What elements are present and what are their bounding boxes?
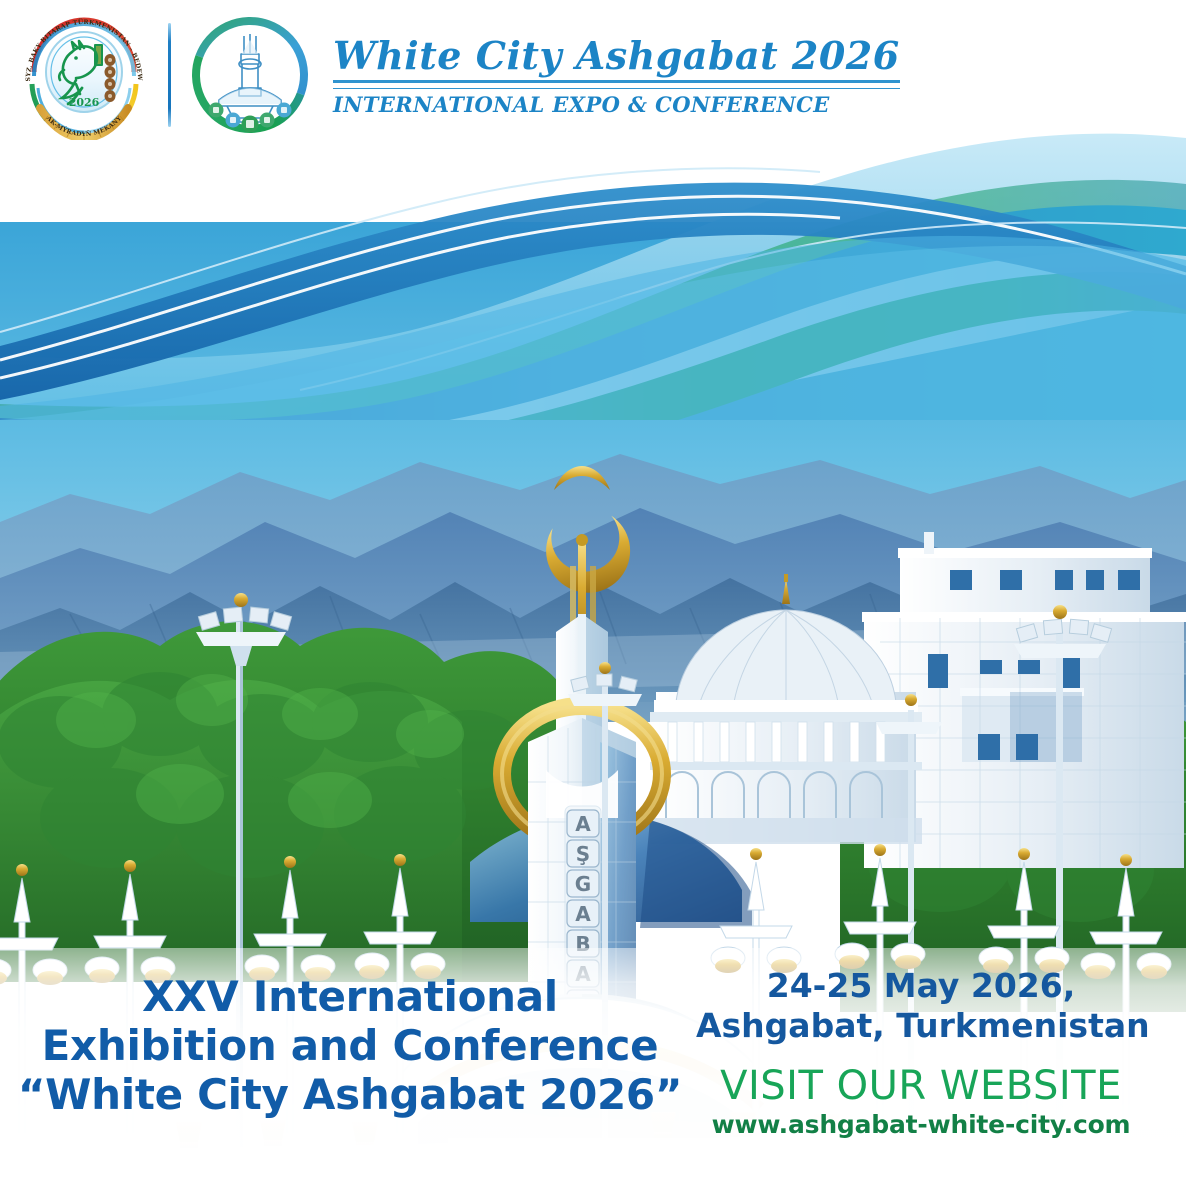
tree-canopy-left — [0, 621, 566, 982]
event-title-line-1: XXV International — [0, 972, 700, 1021]
emblem-year: 2026 — [69, 96, 100, 109]
wordmark: White City Ashgabat 2026 INTERNATIONAL E… — [333, 35, 900, 116]
state-emblem: 2026 GARAŞSYZ, BAKY BITARAP TÜRKMENISTAN… — [18, 10, 150, 140]
turkmenistan-state-emblem-icon: 2026 GARAŞSYZ, BAKY BITARAP TÜRKMENISTAN… — [18, 10, 150, 140]
expo-logo — [189, 14, 311, 136]
bottom-text-band: XXV International Exhibition and Confere… — [0, 948, 1186, 1186]
poster: A Ş G A B A T — [0, 0, 1186, 1186]
event-title-line-2: Exhibition and Conference — [0, 1021, 700, 1070]
event-date-line: 24-25 May 2026, — [696, 966, 1146, 1006]
wordmark-script: White City Ashgabat 2026 — [333, 35, 900, 77]
visit-website-label: VISIT OUR WEBSITE — [696, 1062, 1146, 1110]
wordmark-rule — [333, 80, 900, 83]
event-title-line-3: “White City Ashgabat 2026” — [0, 1070, 700, 1119]
svg-text:G: G — [575, 872, 591, 896]
svg-text:Ş: Ş — [576, 842, 590, 866]
event-location-line: Ashgabat, Turkmenistan — [696, 1006, 1146, 1046]
website-url-link[interactable]: www.ashgabat-white-city.com — [696, 1110, 1146, 1140]
svg-text:A: A — [575, 812, 591, 836]
ashgabat-monument-roundel-icon — [189, 14, 311, 136]
event-title-block: XXV International Exhibition and Confere… — [0, 972, 700, 1119]
header-bar: 2026 GARAŞSYZ, BAKY BITARAP TÜRKMENISTAN… — [0, 0, 1186, 150]
header-divider — [168, 23, 171, 127]
wordmark-subtitle: INTERNATIONAL EXPO & CONFERENCE — [333, 93, 900, 116]
event-meta-block: 24-25 May 2026, Ashgabat, Turkmenistan V… — [696, 966, 1146, 1140]
wordmark-rule-thin — [333, 88, 900, 89]
svg-text:A: A — [575, 902, 591, 926]
